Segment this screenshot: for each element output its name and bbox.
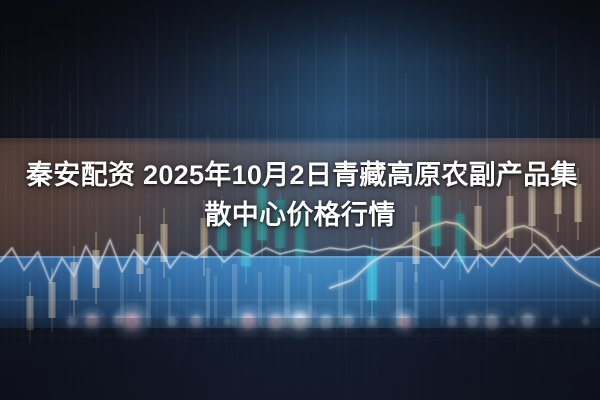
- banner-headline: 秦安配资 2025年10月2日青藏高原农副产品集 散中心价格行情: [0, 155, 600, 235]
- headline-line-2: 散中心价格行情: [26, 195, 574, 235]
- headline-line-1: 秦安配资 2025年10月2日青藏高原农副产品集: [26, 155, 574, 195]
- banner-image: 秦安配资 2025年10月2日青藏高原农副产品集 散中心价格行情: [0, 0, 600, 400]
